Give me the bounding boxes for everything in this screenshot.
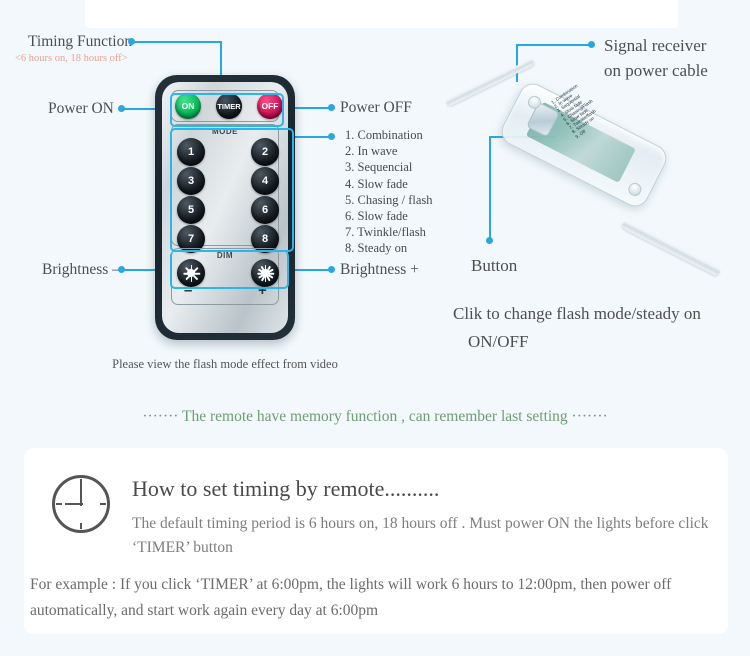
timing-instructions-card: How to set timing by remote.......... Th…	[24, 448, 728, 634]
clock-hour-hand	[65, 503, 83, 505]
signal-receiver-device: 1. Combination 2. In wave 3. Sequential …	[455, 60, 715, 310]
remote-caption: Please view the flash mode effect from v…	[105, 357, 345, 372]
line-timing-h	[132, 41, 222, 43]
callout-brightness-minus: Brightness –	[42, 261, 120, 279]
card-example-text: For example : If you click ‘TIMER’ at 6:…	[30, 572, 720, 624]
callout-brightness-plus: Brightness +	[340, 261, 419, 279]
mode-list-item: 2. In wave	[345, 143, 433, 159]
dot-signal-receiver	[588, 41, 595, 48]
highlight-dim-area	[170, 251, 289, 289]
mode-list-item: 7. Twinkle/flash	[345, 224, 433, 240]
card-body-text: The default timing period is 6 hours on,…	[132, 512, 722, 560]
receiver-screw	[626, 181, 643, 198]
mode-list-item: 8. Steady on	[345, 240, 433, 256]
clock-icon	[52, 475, 110, 533]
memory-function-note: ······· The remote have memory function …	[0, 408, 750, 426]
mode-list-item: 5. Chasing / flash	[345, 192, 433, 208]
callout-timing-function: Timing Function	[28, 33, 132, 51]
mode-list-item: 1. Combination	[345, 127, 433, 143]
callout-power-on: Power ON	[48, 100, 114, 118]
card-title: How to set timing by remote..........	[132, 476, 439, 502]
mode-list-item: 6. Slow fade	[345, 208, 433, 224]
top-white-strip	[85, 0, 678, 28]
mode-list: 1. Combination 2. In wave 3. Sequencial …	[345, 127, 433, 257]
line-mode-list	[290, 136, 330, 138]
callout-click-note-line2: ON/OFF	[468, 332, 528, 352]
highlight-power-row	[170, 93, 284, 127]
power-cable-bottom	[621, 220, 721, 276]
callout-timing-function-sub: <6 hours on, 18 hours off>	[15, 53, 128, 64]
line-receiver-h	[516, 44, 592, 46]
infographic-stage: Timing Function <6 hours on, 18 hours of…	[0, 0, 750, 656]
mode-list-item: 3. Sequencial	[345, 159, 433, 175]
mode-list-item: 4. Slow fade	[345, 176, 433, 192]
callout-power-off: Power OFF	[340, 99, 412, 117]
highlight-mode-area	[170, 128, 294, 252]
receiver-housing: 1. Combination 2. In wave 3. Sequential …	[497, 79, 671, 211]
